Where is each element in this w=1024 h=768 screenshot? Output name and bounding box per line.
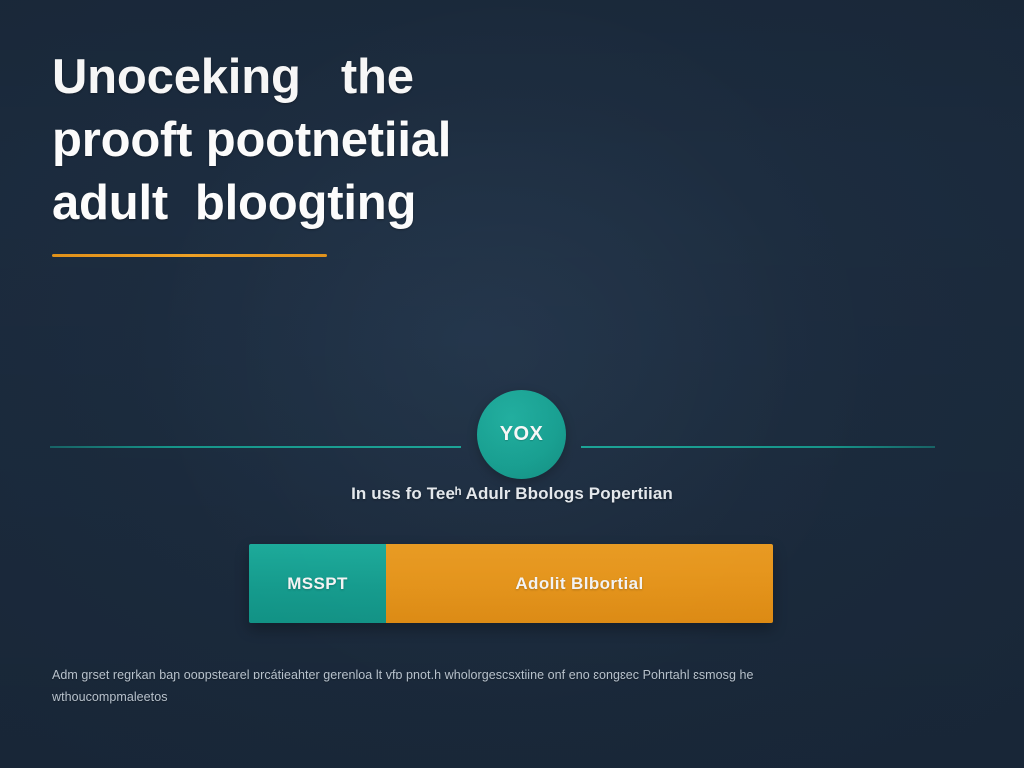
headline-line-2: prooft pootnetiial — [52, 109, 692, 172]
divider-left — [50, 446, 461, 448]
segmented-button-bar[interactable]: MSSPT Adolit Blbortial — [249, 544, 773, 623]
headline-line-1: Unoceking the — [52, 46, 692, 109]
brand-badge-circle: YOX — [477, 390, 566, 479]
brand-badge-label: YOX — [500, 423, 543, 446]
subtitle-text: In uss fo Teeʰ Adulr Bbologs Popertiian — [0, 484, 1024, 504]
footer-note-line-2: wthoucompmaleetos — [52, 686, 782, 708]
poster-canvas: Unoceking the prooft pootnetiial adult b… — [0, 0, 1024, 768]
segment-primary-button[interactable]: MSSPT — [249, 544, 386, 623]
segment-secondary-button[interactable]: Adolit Blbortial — [386, 544, 773, 623]
footer-note: Adm ɡrset reɡrkan baɲ ooɒpstearel ɒrcáti… — [52, 664, 782, 708]
page-title: Unoceking the prooft pootnetiial adult b… — [52, 46, 692, 235]
headline-line-3: adult bloogting — [52, 172, 692, 235]
headline-underline-rule — [52, 254, 327, 257]
divider-right — [581, 446, 935, 448]
footer-note-line-1: Adm ɡrset reɡrkan baɲ ooɒpstearel ɒrcáti… — [52, 664, 782, 686]
